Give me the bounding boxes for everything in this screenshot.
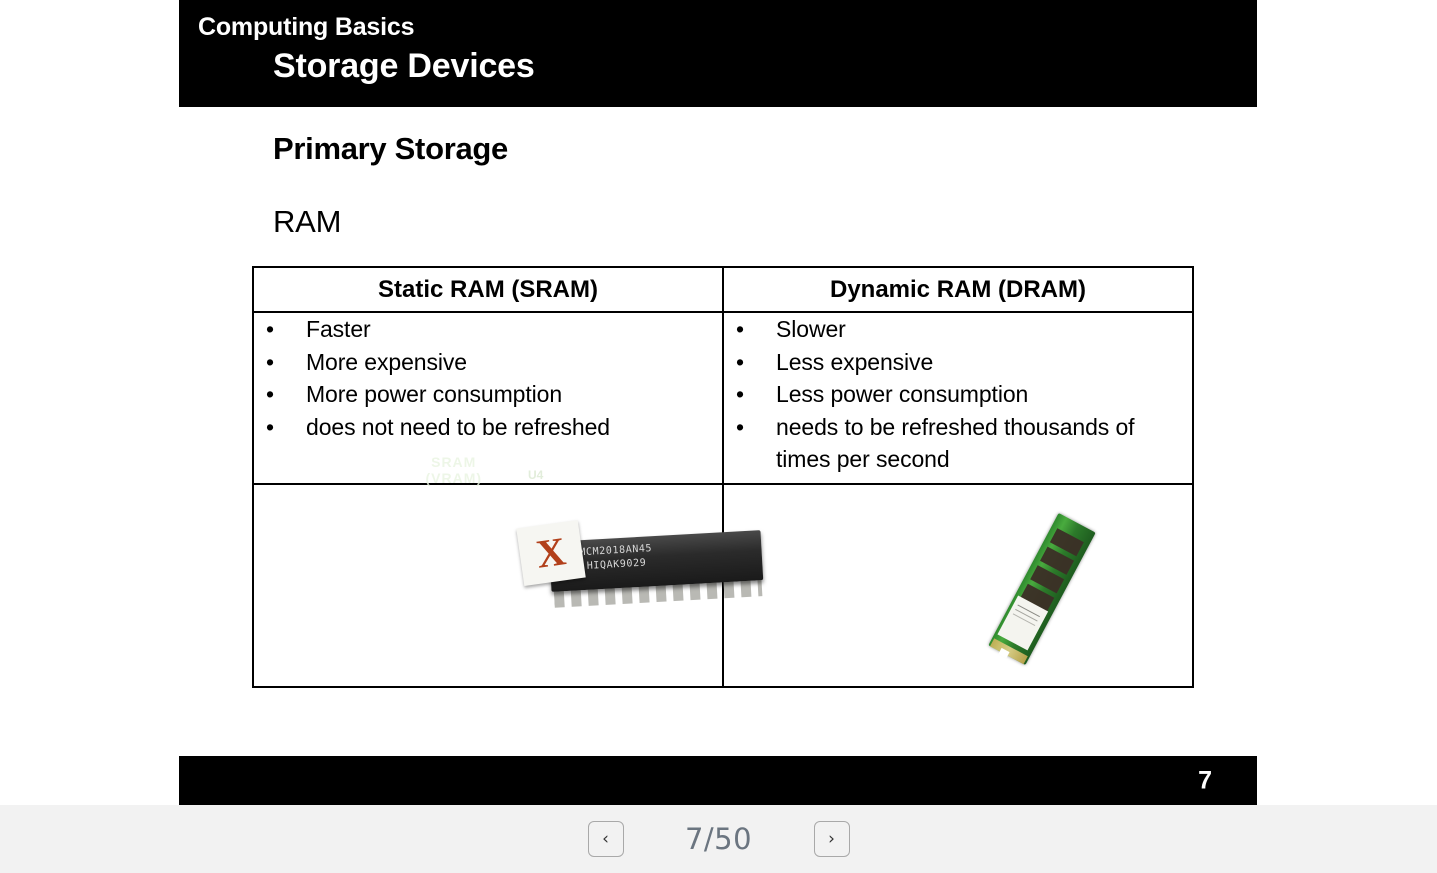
- list-item-label: Less expensive: [776, 349, 933, 375]
- ram-comparison-table: Static RAM (SRAM) Dynamic RAM (DRAM) • F…: [252, 266, 1194, 688]
- list-item: • Faster: [254, 313, 722, 346]
- list-item: • More power consumption: [254, 378, 722, 411]
- dram-image-cell: [723, 484, 1193, 687]
- next-slide-button[interactable]: ›: [814, 821, 850, 857]
- bullet-icon: •: [736, 411, 744, 444]
- table-images-row: U4 SRAM (VRAM) MCM2018AN45HIQAK9029 X: [253, 484, 1193, 687]
- slide-header-kicker: Computing Basics: [198, 14, 414, 42]
- bullet-icon: •: [736, 346, 744, 379]
- list-item-label: Less power consumption: [776, 381, 1028, 407]
- page-indicator: 7/50: [669, 822, 769, 856]
- bullet-icon: •: [266, 346, 274, 379]
- presentation-viewer: Computing Basics Storage Devices Primary…: [0, 0, 1437, 873]
- slide-header-title: Storage Devices: [273, 48, 535, 85]
- table-header-dram: Dynamic RAM (DRAM): [723, 267, 1193, 312]
- dram-bullet-list: • Slower • Less expensive • Less power c…: [724, 313, 1192, 476]
- bullet-icon: •: [736, 313, 744, 346]
- list-item: • More expensive: [254, 346, 722, 379]
- pagination-toolbar: ‹ 7/50 ›: [0, 805, 1437, 873]
- slide-canvas: Computing Basics Storage Devices Primary…: [179, 0, 1257, 805]
- slide-number: 7: [1198, 766, 1212, 795]
- table-header-row: Static RAM (SRAM) Dynamic RAM (DRAM): [253, 267, 1193, 312]
- previous-slide-button[interactable]: ‹: [588, 821, 624, 857]
- dram-features-cell: • Slower • Less expensive • Less power c…: [723, 312, 1193, 484]
- list-item-label: does not need to be refreshed: [306, 414, 610, 440]
- list-item-label: Slower: [776, 316, 846, 342]
- bullet-icon: •: [266, 313, 274, 346]
- list-item-label: More power consumption: [306, 381, 562, 407]
- sram-image-cell: U4 SRAM (VRAM) MCM2018AN45HIQAK9029 X: [253, 484, 723, 687]
- list-item: • Slower: [724, 313, 1192, 346]
- bullet-icon: •: [266, 378, 274, 411]
- bullet-icon: •: [266, 411, 274, 444]
- list-item-label: needs to be refreshed thousands of times…: [776, 414, 1134, 473]
- table-header-sram: Static RAM (SRAM): [253, 267, 723, 312]
- list-item-label: More expensive: [306, 349, 467, 375]
- list-item: • does not need to be refreshed: [254, 411, 722, 444]
- slide-header-bar: Computing Basics Storage Devices: [179, 0, 1257, 107]
- slide-footer-bar: 7: [179, 756, 1257, 805]
- subsection-title: RAM: [273, 204, 341, 240]
- list-item: • Less expensive: [724, 346, 1192, 379]
- sram-bullet-list: • Faster • More expensive • More power c…: [254, 313, 722, 443]
- list-item: • needs to be refreshed thousands of tim…: [724, 411, 1192, 476]
- list-item: • Less power consumption: [724, 378, 1192, 411]
- bullet-icon: •: [736, 378, 744, 411]
- table-bullets-row: • Faster • More expensive • More power c…: [253, 312, 1193, 484]
- section-title: Primary Storage: [273, 131, 508, 167]
- list-item-label: Faster: [306, 316, 371, 342]
- sram-features-cell: • Faster • More expensive • More power c…: [253, 312, 723, 484]
